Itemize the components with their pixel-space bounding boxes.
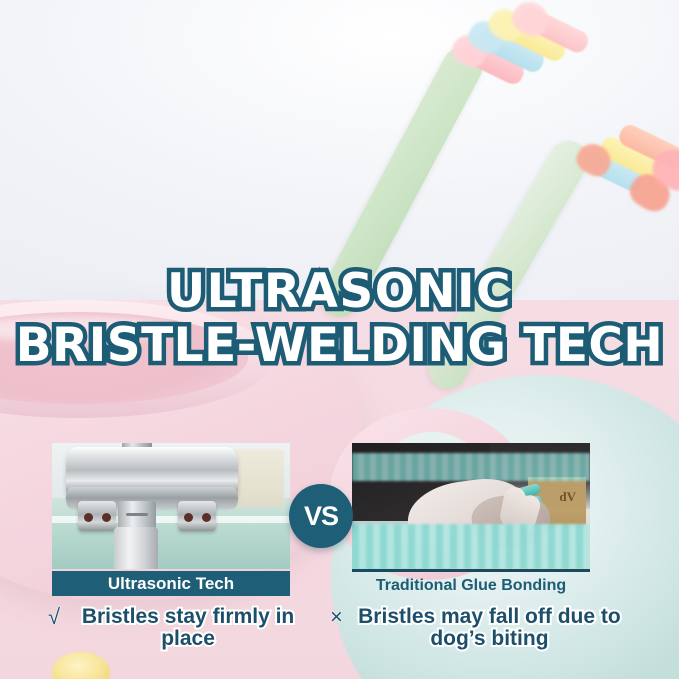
bristle-head-front: [448, 0, 592, 125]
glue-bonding-photo: dV: [352, 443, 590, 569]
machine-side-object: [232, 449, 284, 507]
right-claim: × Bristles may fall off due to dog’s bit…: [330, 606, 630, 649]
toothbrush-photo-group: [420, 0, 679, 284]
brush-tray-front: [352, 524, 590, 569]
right-claim-text: Bristles may fall off due to dog’s bitin…: [349, 606, 630, 649]
right-panel-label: Traditional Glue Bonding: [352, 569, 590, 599]
check-icon: √: [48, 606, 60, 628]
machine-sonotrode-slot: [126, 513, 148, 516]
brush-tray-back: [352, 453, 590, 481]
machine-clamp-left: [78, 501, 116, 531]
vs-badge: VS: [289, 484, 353, 548]
bristle-head-back: [573, 101, 679, 234]
cross-icon: ×: [330, 606, 343, 628]
cardboard-box-text: dV: [559, 489, 576, 505]
headline-line-2: BRISTLE-WELDING TECH: [0, 318, 679, 373]
ultrasonic-tech-photo: [52, 443, 290, 569]
machine-post: [114, 527, 158, 569]
machine-clamp-right: [178, 501, 216, 531]
left-claim: √ Bristles stay firmly in place: [48, 606, 310, 649]
left-panel-label: Ultrasonic Tech: [52, 571, 290, 596]
left-claim-text: Bristles stay firmly in place: [66, 606, 310, 649]
headline-line-1: ULTRASONIC: [0, 264, 679, 319]
product-infographic: ULTRASONIC BRISTLE-WELDING TECH dV: [0, 0, 679, 679]
